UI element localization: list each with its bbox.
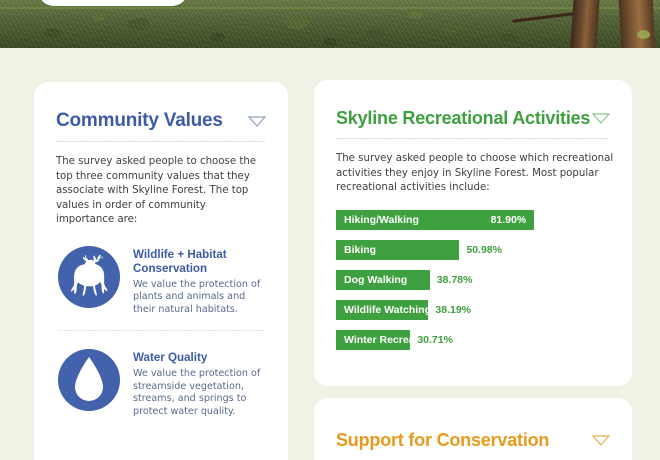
tree-trunk-left — [569, 0, 600, 48]
bar-row: Dog Walking38.78% — [336, 270, 632, 290]
value-item-water-quality[interactable]: Water Quality We value the protection of… — [58, 349, 268, 418]
recreational-activities-header[interactable]: Skyline Recreational Activities — [314, 80, 632, 129]
activity-bar-value: 30.71% — [417, 334, 453, 346]
value-item-wildlife-description: We value the protection of plants and an… — [133, 279, 268, 317]
hero-banner — [0, 0, 660, 48]
water-drop-icon — [58, 349, 120, 411]
recreational-activities-card: Skyline Recreational Activities The surv… — [314, 80, 632, 386]
horizon-line — [0, 7, 660, 9]
activity-bar-label: Wildlife Watching — [344, 304, 431, 316]
value-item-wildlife-text: Wildlife + Habitat Conservation We value… — [133, 246, 268, 317]
activity-bar-value: 50.98% — [466, 244, 502, 256]
site-logo-plate[interactable] — [38, 0, 188, 6]
activity-bar: Biking — [336, 240, 459, 260]
bar-row: Biking50.98% — [336, 240, 632, 260]
activity-bar: Wildlife Watching — [336, 300, 428, 320]
community-values-title: Community Values — [56, 110, 223, 132]
activity-bar-value: 81.90% — [491, 214, 527, 226]
activity-bar-label: Dog Walking — [344, 274, 407, 286]
support-for-conservation-header[interactable]: Support for Conservation — [314, 398, 632, 451]
chevron-down-icon[interactable] — [592, 113, 610, 124]
recreational-activities-divider — [336, 138, 610, 139]
support-for-conservation-title: Support for Conservation — [336, 430, 549, 451]
activity-bar-label: Hiking/Walking — [344, 214, 419, 226]
value-item-water-quality-text: Water Quality We value the protection of… — [133, 349, 268, 418]
value-item-wildlife[interactable]: Wildlife + Habitat Conservation We value… — [58, 246, 268, 317]
bar-row: Hiking/Walking81.90% — [336, 210, 632, 230]
chevron-down-icon[interactable] — [248, 116, 266, 127]
recreational-activities-title: Skyline Recreational Activities — [336, 108, 590, 129]
bar-row: Wildlife Watching38.19% — [336, 300, 632, 320]
recreational-activities-intro: The survey asked people to choose which … — [336, 152, 614, 196]
value-item-water-quality-title: Water Quality — [133, 351, 268, 365]
values-separator — [58, 330, 264, 331]
chevron-down-icon[interactable] — [592, 435, 610, 446]
support-for-conservation-card: Support for Conservation — [314, 398, 632, 460]
activity-bar: Winter Recreation — [336, 330, 410, 350]
bar-row: Winter Recreation30.71% — [336, 330, 632, 350]
tree-trunk-right — [618, 0, 656, 48]
value-item-water-quality-description: We value the protection of streamside ve… — [133, 368, 268, 418]
community-values-divider — [56, 141, 266, 142]
value-item-wildlife-title: Wildlife + Habitat Conservation — [133, 248, 268, 276]
activities-bar-chart: Hiking/Walking81.90%Biking50.98%Dog Walk… — [336, 210, 632, 350]
community-values-card: Community Values The survey asked people… — [34, 82, 288, 460]
activity-bar-label: Biking — [344, 244, 376, 256]
deer-icon — [58, 246, 120, 308]
activity-bar-value: 38.78% — [437, 274, 473, 286]
community-values-intro: The survey asked people to choose the to… — [56, 155, 266, 228]
activity-bar: Dog Walking — [336, 270, 430, 290]
moss-patch — [637, 30, 650, 39]
community-values-header[interactable]: Community Values — [34, 82, 288, 132]
activity-bar-value: 38.19% — [435, 304, 471, 316]
activity-bar: Hiking/Walking81.90% — [336, 210, 534, 230]
